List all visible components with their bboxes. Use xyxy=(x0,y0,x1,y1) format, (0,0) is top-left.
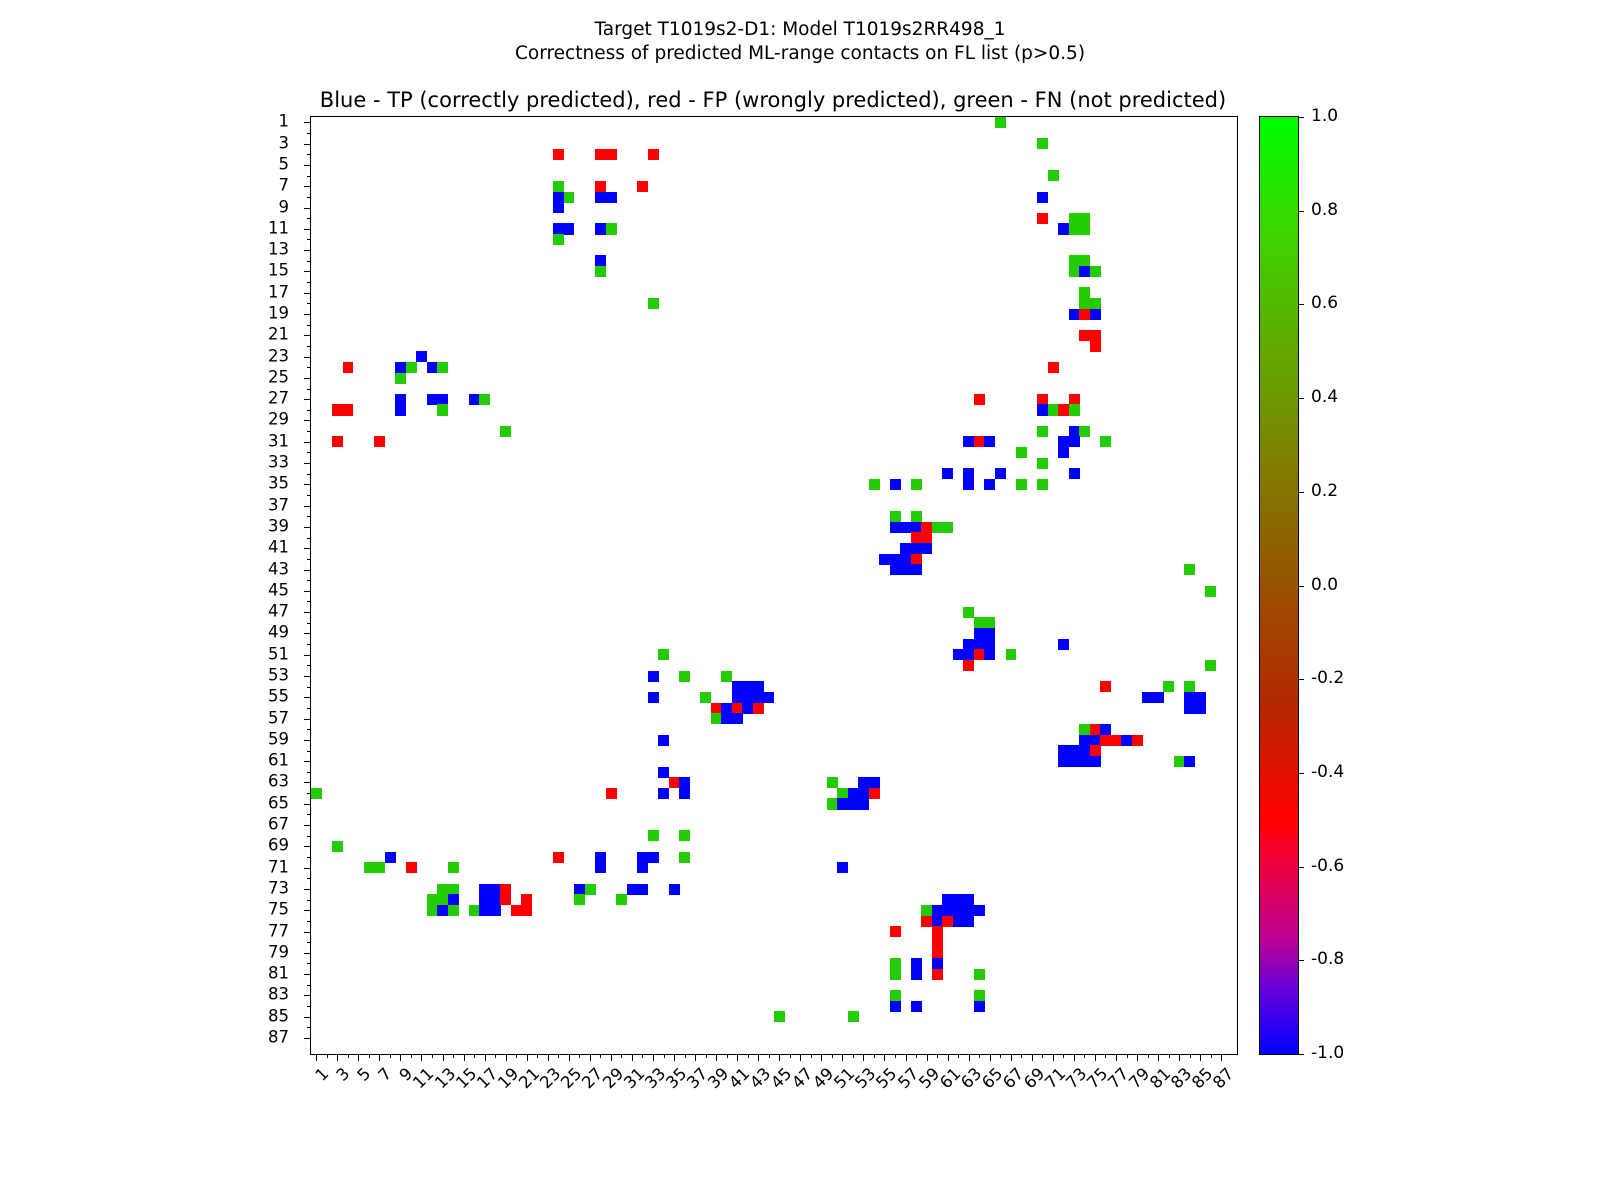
contact-cell xyxy=(395,394,406,405)
contact-cell xyxy=(1174,756,1185,767)
contact-cell xyxy=(911,1001,922,1012)
contact-cell xyxy=(911,532,922,543)
figure-title-block: Target T1019s2-D1: Model T1019s2RR498_1 … xyxy=(0,18,1600,66)
contact-cell xyxy=(427,394,438,405)
contact-cell xyxy=(700,692,711,703)
contact-cell xyxy=(658,735,669,746)
x-axis-tick xyxy=(590,1054,591,1061)
x-axis-tick-label: 87 xyxy=(1209,1064,1237,1092)
colorbar-tick-label: -0.6 xyxy=(1311,856,1344,876)
contact-cell xyxy=(627,884,638,895)
contact-map-cells xyxy=(311,117,1237,1054)
y-axis-tick xyxy=(304,420,311,421)
x-axis-tick xyxy=(842,1054,843,1061)
figure-title-line-1: Target T1019s2-D1: Model T1019s2RR498_1 xyxy=(0,18,1600,42)
x-axis-tick xyxy=(685,1054,686,1058)
contact-cell xyxy=(1090,298,1101,309)
contact-cell xyxy=(963,436,974,447)
y-axis-tick-label: 75 xyxy=(268,900,289,919)
contact-cell xyxy=(332,436,343,447)
contact-cell xyxy=(669,884,680,895)
contact-cell xyxy=(1090,735,1101,746)
contact-cell xyxy=(437,905,448,916)
y-axis-tick-label: 39 xyxy=(268,516,289,535)
y-axis-tick xyxy=(304,804,311,805)
contact-cell xyxy=(890,522,901,533)
contact-cell xyxy=(1079,213,1090,224)
x-axis-tick xyxy=(1221,1054,1222,1061)
x-axis-tick xyxy=(979,1054,980,1058)
contact-cell xyxy=(911,511,922,522)
contact-cell xyxy=(469,905,480,916)
colorbar xyxy=(1259,116,1299,1055)
y-axis-tick xyxy=(307,963,311,964)
contact-cell xyxy=(1184,703,1195,714)
contact-cell xyxy=(848,798,859,809)
contact-cell xyxy=(869,777,880,788)
contact-cell xyxy=(1184,681,1195,692)
contact-cell xyxy=(974,649,985,660)
contact-cell xyxy=(984,479,995,490)
contact-cell xyxy=(911,958,922,969)
y-axis-tick-label: 51 xyxy=(268,644,289,663)
y-axis-tick xyxy=(304,761,311,762)
contact-cell xyxy=(374,436,385,447)
x-axis-tick-label: 1 xyxy=(312,1064,333,1085)
x-axis-tick xyxy=(895,1054,896,1058)
y-axis-tick xyxy=(304,910,311,911)
x-axis-tick xyxy=(1095,1054,1096,1061)
contact-cell xyxy=(1079,255,1090,266)
contact-cell xyxy=(890,511,901,522)
colorbar-tick xyxy=(1298,773,1304,774)
contact-cell xyxy=(490,894,501,905)
contact-cell xyxy=(479,894,490,905)
y-axis-tick-label: 35 xyxy=(268,474,289,493)
x-axis-tick xyxy=(642,1054,643,1058)
contact-cell xyxy=(648,692,659,703)
y-axis-tick-label: 71 xyxy=(268,857,289,876)
y-axis-tick xyxy=(307,559,311,560)
y-axis-tick xyxy=(304,719,311,720)
y-axis-tick-label: 37 xyxy=(268,495,289,514)
contact-cell xyxy=(921,522,932,533)
x-axis-tick xyxy=(611,1054,612,1061)
contact-cell xyxy=(953,905,964,916)
contact-cell xyxy=(742,692,753,703)
contact-cell xyxy=(595,192,606,203)
contact-cell xyxy=(606,223,617,234)
contact-cell xyxy=(753,703,764,714)
contact-cell xyxy=(890,990,901,1001)
x-axis-tick-label: 7 xyxy=(375,1064,396,1085)
y-axis-tick xyxy=(304,463,311,464)
contact-cell xyxy=(595,852,606,863)
contact-cell xyxy=(374,862,385,873)
colorbar-tick-label: 0.4 xyxy=(1311,387,1338,407)
contact-cell xyxy=(1037,479,1048,490)
y-axis-tick xyxy=(307,282,311,283)
contact-cell xyxy=(1069,404,1080,415)
contact-cell xyxy=(1100,681,1111,692)
y-axis-tick xyxy=(307,367,311,368)
contact-cell xyxy=(500,894,511,905)
contact-cell xyxy=(658,649,669,660)
x-axis-tick xyxy=(432,1054,433,1058)
colorbar-tick xyxy=(1298,304,1304,305)
contact-cell xyxy=(742,703,753,714)
contact-cell xyxy=(427,894,438,905)
y-axis-tick-label: 57 xyxy=(268,708,289,727)
contact-cell xyxy=(574,894,585,905)
y-axis-tick xyxy=(307,878,311,879)
x-axis-tick xyxy=(316,1054,317,1061)
y-axis-tick xyxy=(304,740,311,741)
y-axis-tick xyxy=(304,186,311,187)
contact-cell xyxy=(974,905,985,916)
x-axis-tick xyxy=(664,1054,665,1058)
x-axis-tick xyxy=(527,1054,528,1061)
x-axis-tick xyxy=(1000,1054,1001,1058)
contact-cell xyxy=(963,649,974,660)
y-axis-tick-label: 43 xyxy=(268,559,289,578)
x-axis-tick xyxy=(832,1054,833,1058)
y-axis-tick-label: 63 xyxy=(268,772,289,791)
y-axis-tick-label: 81 xyxy=(268,964,289,983)
x-axis-tick xyxy=(464,1054,465,1061)
contact-cell xyxy=(911,554,922,565)
contact-cell xyxy=(1079,756,1090,767)
contact-cell xyxy=(753,692,764,703)
y-axis-tick-label: 27 xyxy=(268,389,289,408)
contact-cell xyxy=(1184,564,1195,575)
x-axis-tick xyxy=(600,1054,601,1058)
y-axis-tick-label: 21 xyxy=(268,325,289,344)
contact-cell xyxy=(911,564,922,575)
contact-cell xyxy=(332,841,343,852)
y-axis-tick xyxy=(307,665,311,666)
x-axis-tick xyxy=(1074,1054,1075,1061)
contact-cell xyxy=(1037,138,1048,149)
y-axis-tick xyxy=(304,229,311,230)
x-axis-tick xyxy=(811,1054,812,1058)
contact-cell xyxy=(1048,404,1059,415)
contact-cell xyxy=(763,692,774,703)
x-axis-tick xyxy=(1053,1054,1054,1061)
contact-cell xyxy=(1058,745,1069,756)
contact-cell xyxy=(742,681,753,692)
contact-cell xyxy=(1079,745,1090,756)
y-axis-tick xyxy=(307,772,311,773)
y-axis-tick-label: 59 xyxy=(268,729,289,748)
contact-cell xyxy=(1058,447,1069,458)
x-axis-tick xyxy=(443,1054,444,1061)
contact-cell xyxy=(658,767,669,778)
contact-cell xyxy=(1100,436,1111,447)
y-axis-tick xyxy=(307,921,311,922)
y-axis-tick-label: 85 xyxy=(268,1006,289,1025)
contact-cell xyxy=(648,298,659,309)
y-axis-tick-label: 77 xyxy=(268,921,289,940)
x-axis-tick xyxy=(958,1054,959,1058)
y-axis-tick-label: 33 xyxy=(268,453,289,472)
y-axis-tick xyxy=(304,782,311,783)
contact-cell xyxy=(1048,362,1059,373)
contact-cell xyxy=(585,884,596,895)
y-axis-tick-label: 41 xyxy=(268,538,289,557)
x-axis-tick xyxy=(706,1054,707,1058)
y-axis-tick xyxy=(307,495,311,496)
contact-cell xyxy=(900,543,911,554)
y-axis-tick xyxy=(304,697,311,698)
contact-cell xyxy=(616,894,627,905)
contact-cell xyxy=(437,362,448,373)
contact-cell xyxy=(921,543,932,554)
x-axis-tick xyxy=(863,1054,864,1061)
y-axis-tick xyxy=(304,932,311,933)
y-axis-tick-label: 53 xyxy=(268,666,289,685)
x-axis-tick xyxy=(400,1054,401,1061)
y-axis-tick xyxy=(307,218,311,219)
x-axis-tick xyxy=(421,1054,422,1061)
y-axis-tick xyxy=(307,325,311,326)
contact-cell xyxy=(564,223,575,234)
x-axis-tick xyxy=(516,1054,517,1058)
y-axis-tick-label: 67 xyxy=(268,815,289,834)
contact-cell xyxy=(637,862,648,873)
contact-cell xyxy=(911,522,922,533)
y-axis-tick xyxy=(307,410,311,411)
contact-cell xyxy=(963,905,974,916)
contact-cell xyxy=(1037,458,1048,469)
contact-cell xyxy=(963,894,974,905)
contact-cell xyxy=(416,351,427,362)
contact-cell xyxy=(953,894,964,905)
contact-cell xyxy=(1090,341,1101,352)
y-axis-tick-label: 31 xyxy=(268,431,289,450)
y-axis-tick xyxy=(307,623,311,624)
contact-cell xyxy=(521,905,532,916)
contact-cell xyxy=(364,862,375,873)
contact-cell xyxy=(679,830,690,841)
y-axis-tick-label: 7 xyxy=(279,176,290,195)
x-axis-tick xyxy=(874,1054,875,1058)
y-axis-tick-label: 83 xyxy=(268,985,289,1004)
y-axis-tick xyxy=(304,846,311,847)
x-axis-tick xyxy=(358,1054,359,1061)
contact-cell xyxy=(974,628,985,639)
x-axis-tick xyxy=(1169,1054,1170,1058)
x-axis-tick xyxy=(884,1054,885,1061)
contact-cell xyxy=(637,852,648,863)
contact-cell xyxy=(637,884,648,895)
x-axis-tick xyxy=(906,1054,907,1061)
y-axis-tick xyxy=(307,154,311,155)
contact-cell xyxy=(1090,756,1101,767)
y-axis-tick-label: 45 xyxy=(268,580,289,599)
contact-cell xyxy=(448,905,459,916)
contact-cell xyxy=(932,958,943,969)
y-axis-tick-label: 69 xyxy=(268,836,289,855)
contact-cell xyxy=(890,926,901,937)
x-axis-tick xyxy=(990,1054,991,1061)
y-axis-tick xyxy=(307,133,311,134)
contact-cell xyxy=(553,202,564,213)
y-axis-tick-label: 19 xyxy=(268,303,289,322)
x-axis-tick xyxy=(506,1054,507,1061)
x-axis-tick xyxy=(1011,1054,1012,1061)
contact-cell xyxy=(1090,266,1101,277)
x-axis-tick xyxy=(1105,1054,1106,1058)
contact-cell xyxy=(553,852,564,863)
contact-cell xyxy=(1205,586,1216,597)
y-axis-tick xyxy=(307,708,311,709)
contact-cell xyxy=(1069,255,1080,266)
y-axis-tick xyxy=(304,506,311,507)
colorbar-tick-label: -0.2 xyxy=(1311,668,1344,688)
y-axis-tick-label: 3 xyxy=(279,133,290,152)
colorbar-tick-label: 0.2 xyxy=(1311,481,1338,501)
contact-cell xyxy=(606,149,617,160)
contact-cell xyxy=(1195,703,1206,714)
contact-cell xyxy=(669,777,680,788)
x-axis-tick xyxy=(1032,1054,1033,1061)
contact-cell xyxy=(827,798,838,809)
y-axis-tick xyxy=(304,995,311,996)
contact-cell xyxy=(395,362,406,373)
y-axis-tick-label: 73 xyxy=(268,878,289,897)
contact-cell xyxy=(753,681,764,692)
contact-cell xyxy=(963,607,974,618)
contact-cell xyxy=(1069,426,1080,437)
x-axis-tick xyxy=(1190,1054,1191,1058)
y-axis-tick-label: 11 xyxy=(268,218,289,237)
y-axis-tick-label: 55 xyxy=(268,687,289,706)
y-axis-tick xyxy=(307,516,311,517)
y-axis-tick xyxy=(307,389,311,390)
contact-cell xyxy=(679,777,690,788)
x-axis-tick xyxy=(369,1054,370,1058)
contact-cell xyxy=(932,905,943,916)
contact-cell xyxy=(1079,724,1090,735)
contact-cell xyxy=(869,788,880,799)
y-axis-tick-label: 79 xyxy=(268,942,289,961)
contact-cell xyxy=(879,554,890,565)
contact-map-plot[interactable] xyxy=(310,116,1238,1055)
y-axis-tick xyxy=(304,378,311,379)
contact-cell xyxy=(469,394,480,405)
y-axis-tick xyxy=(304,293,311,294)
x-axis-tick xyxy=(853,1054,854,1058)
y-axis-tick xyxy=(304,335,311,336)
contact-cell xyxy=(553,149,564,160)
y-axis-tick xyxy=(307,836,311,837)
contact-cell xyxy=(479,394,490,405)
contact-cell xyxy=(1069,213,1080,224)
contact-cell xyxy=(406,362,417,373)
y-axis-tick-label: 49 xyxy=(268,623,289,642)
colorbar-tick xyxy=(1298,492,1304,493)
y-axis-tick-label: 5 xyxy=(279,154,290,173)
x-axis-tick xyxy=(1021,1054,1022,1058)
contact-cell xyxy=(1058,436,1069,447)
contact-cell xyxy=(500,884,511,895)
contact-cell xyxy=(1069,223,1080,234)
contact-cell xyxy=(658,788,669,799)
contact-cell xyxy=(437,394,448,405)
x-axis-tick xyxy=(621,1054,622,1058)
y-axis-tick-label: 47 xyxy=(268,602,289,621)
contact-cell xyxy=(963,479,974,490)
y-axis-tick xyxy=(304,655,311,656)
y-axis-tick xyxy=(307,346,311,347)
contact-cell xyxy=(500,426,511,437)
y-axis-tick xyxy=(304,548,311,549)
contact-cell xyxy=(984,436,995,447)
x-axis-tick xyxy=(327,1054,328,1058)
contact-cell xyxy=(521,894,532,905)
y-axis-tick xyxy=(304,484,311,485)
contact-cell xyxy=(1069,745,1080,756)
contact-cell xyxy=(921,532,932,543)
x-axis-tick xyxy=(653,1054,654,1061)
contact-cell xyxy=(974,394,985,405)
contact-cell xyxy=(395,404,406,415)
x-axis-tick xyxy=(800,1054,801,1061)
contact-cell xyxy=(984,639,995,650)
y-axis-tick xyxy=(307,538,311,539)
x-axis-tick xyxy=(337,1054,338,1061)
contact-cell xyxy=(648,830,659,841)
y-axis-tick xyxy=(304,889,311,890)
y-axis-tick xyxy=(304,357,311,358)
contact-cell xyxy=(890,958,901,969)
x-axis-tick xyxy=(969,1054,970,1061)
colorbar-tick xyxy=(1298,211,1304,212)
contact-cell xyxy=(595,181,606,192)
contact-cell xyxy=(974,1001,985,1012)
y-axis-tick xyxy=(304,953,311,954)
contact-cell xyxy=(711,703,722,714)
y-axis-tick-label: 65 xyxy=(268,793,289,812)
contact-cell xyxy=(911,479,922,490)
x-axis-tick xyxy=(1158,1054,1159,1061)
y-axis-tick xyxy=(307,239,311,240)
contact-cell xyxy=(1058,404,1069,415)
contact-cell xyxy=(1205,660,1216,671)
y-axis-tick xyxy=(304,1017,311,1018)
contact-cell xyxy=(1111,735,1122,746)
x-axis-tick xyxy=(769,1054,770,1058)
x-axis-tick xyxy=(348,1054,349,1058)
y-axis-tick xyxy=(307,814,311,815)
contact-cell xyxy=(932,969,943,980)
y-axis-tick xyxy=(304,1038,311,1039)
contact-cell xyxy=(427,905,438,916)
contact-cell xyxy=(1016,447,1027,458)
contact-cell xyxy=(942,468,953,479)
y-axis-tick xyxy=(307,474,311,475)
contact-cell xyxy=(448,862,459,873)
contact-cell xyxy=(721,713,732,724)
contact-cell xyxy=(974,990,985,1001)
contact-cell xyxy=(932,916,943,927)
contact-cell xyxy=(837,862,848,873)
contact-cell xyxy=(732,681,743,692)
colorbar-gradient xyxy=(1260,117,1298,1054)
x-axis-tick xyxy=(379,1054,380,1061)
contact-cell xyxy=(595,862,606,873)
